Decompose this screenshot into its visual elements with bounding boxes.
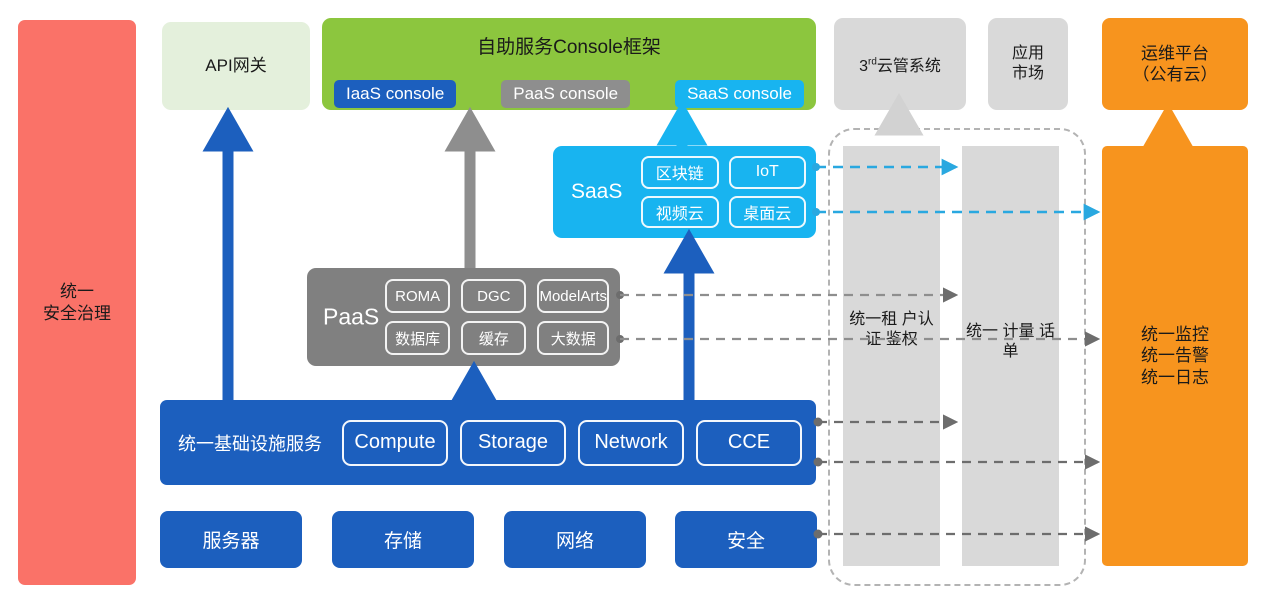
- infra-service-network[interactable]: Network: [578, 420, 684, 466]
- superscript-rd: rd: [868, 57, 877, 68]
- unified-infrastructure-label: 统一基础设施服务: [178, 430, 322, 456]
- resource-box-security: 安全: [675, 511, 817, 568]
- paas-service-cache[interactable]: 缓存: [461, 321, 526, 355]
- paas-service-roma[interactable]: ROMA: [385, 279, 450, 313]
- api-gateway-label: API网关: [205, 55, 266, 76]
- tenant-auth-column: 统一租 户认证 鉴权: [843, 146, 940, 566]
- saas-service-desktop-cloud[interactable]: 桌面云: [729, 196, 807, 229]
- arrow-ops-side-to-ops-top: [1152, 114, 1184, 146]
- infra-service-storage[interactable]: Storage: [460, 420, 566, 466]
- architecture-diagram: 统一 安全治理 API网关 自助服务Console框架 IaaS console…: [0, 0, 1265, 605]
- saas-service-iot[interactable]: IoT: [729, 156, 807, 189]
- paas-service-grid: ROMA DGC ModelArts 数据库 缓存 大数据: [385, 279, 609, 355]
- saas-service-video-cloud[interactable]: 视频云: [641, 196, 719, 229]
- ops-platform-monitoring-label: 统一监控 统一告警 统一日志: [1141, 324, 1209, 388]
- paas-service-modelarts[interactable]: ModelArts: [537, 279, 609, 313]
- app-market-box: 应用 市场: [988, 18, 1068, 110]
- paas-service-bigdata[interactable]: 大数据: [537, 321, 609, 355]
- resource-box-server: 服务器: [160, 511, 302, 568]
- console-chip-row: IaaS console PaaS console SaaS console: [334, 80, 804, 108]
- infra-service-compute[interactable]: Compute: [342, 420, 448, 466]
- arrow-infra-to-saas: [673, 240, 705, 400]
- saas-service-blockchain[interactable]: 区块链: [641, 156, 719, 189]
- metering-billing-label: 统一 计量 话单: [962, 322, 1059, 361]
- ops-platform-monitoring-panel: 统一监控 统一告警 统一日志: [1102, 146, 1248, 566]
- resource-label-server: 服务器: [202, 526, 259, 553]
- console-frame-title: 自助服务Console框架: [322, 32, 816, 59]
- arrow-infra-to-paas: [458, 372, 490, 400]
- api-gateway-box: API网关: [162, 22, 310, 110]
- ops-platform-public-cloud-box: 运维平台 （公有云）: [1102, 18, 1248, 110]
- saas-service-grid: 区块链 IoT 视频云 桌面云: [641, 156, 806, 228]
- resource-label-security: 安全: [727, 526, 765, 553]
- self-service-console-frame: 自助服务Console框架 IaaS console PaaS console …: [322, 18, 816, 110]
- third-party-cloud-mgmt-label: 3rd云管系统: [859, 52, 941, 76]
- saas-layer-box: SaaS 区块链 IoT 视频云 桌面云: [553, 146, 816, 238]
- arrow-infra-to-api-gateway: [212, 118, 244, 400]
- unified-security-panel: 统一 安全治理: [18, 20, 136, 585]
- paas-service-database[interactable]: 数据库: [385, 321, 450, 355]
- third-party-cloud-mgmt-box: 3rd云管系统: [834, 18, 966, 110]
- tenant-auth-label: 统一租 户认证 鉴权: [843, 310, 940, 349]
- saas-layer-label: SaaS: [571, 180, 622, 204]
- arrow-paas-to-console: [454, 118, 486, 268]
- resource-box-storage: 存储: [332, 511, 474, 568]
- paas-layer-box: PaaS ROMA DGC ModelArts 数据库 缓存 大数据: [307, 268, 620, 366]
- paas-console-chip[interactable]: PaaS console: [501, 80, 630, 108]
- infrastructure-chip-row: Compute Storage Network CCE: [342, 420, 802, 466]
- resource-box-network: 网络: [504, 511, 646, 568]
- paas-layer-label: PaaS: [323, 304, 379, 331]
- unified-security-label: 统一 安全治理: [43, 281, 111, 324]
- app-market-label: 应用 市场: [1012, 44, 1044, 84]
- ops-platform-public-cloud-label: 运维平台 （公有云）: [1133, 43, 1218, 86]
- saas-console-chip[interactable]: SaaS console: [675, 80, 804, 108]
- unified-infrastructure-box: 统一基础设施服务 Compute Storage Network CCE: [160, 400, 816, 485]
- paas-service-dgc[interactable]: DGC: [461, 279, 526, 313]
- resource-label-network: 网络: [556, 526, 594, 553]
- iaas-console-chip[interactable]: IaaS console: [334, 80, 456, 108]
- arrow-saas-to-console: [666, 112, 698, 146]
- resource-label-storage: 存储: [384, 526, 422, 553]
- infra-service-cce[interactable]: CCE: [696, 420, 802, 466]
- metering-billing-column: 统一 计量 话单: [962, 146, 1059, 566]
